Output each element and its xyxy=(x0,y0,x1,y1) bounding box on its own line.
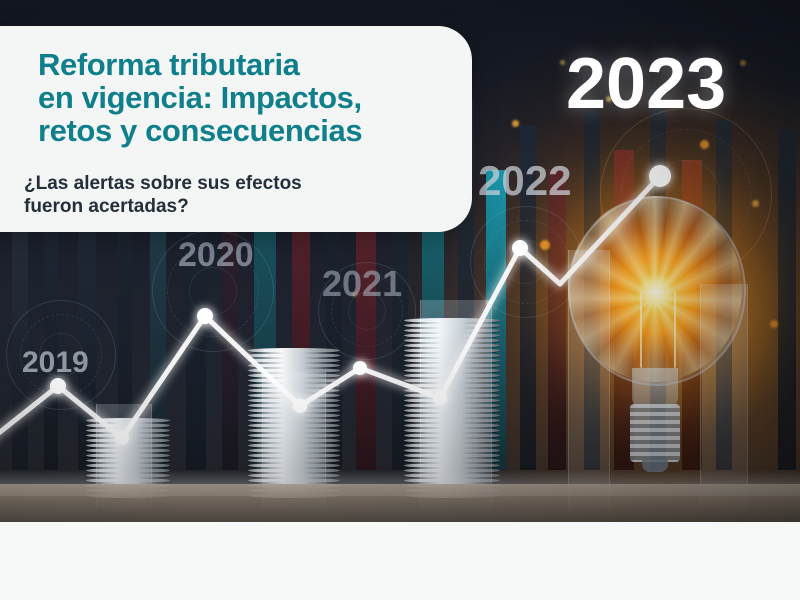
subtitle-line-1: ¿Las alertas sobre sus efectos xyxy=(24,172,444,195)
sponsor-footer: EN ALIANZA APOYA POSSE HERRERA RUIZ ·buk… xyxy=(0,522,800,600)
year-label-2021: 2021 xyxy=(322,266,402,302)
year-label-2022: 2022 xyxy=(478,160,571,202)
year-label-2020: 2020 xyxy=(178,238,254,272)
title-panel: Reforma tributaria en vigencia: Impactos… xyxy=(0,26,472,232)
year-label-2019: 2019 xyxy=(22,348,89,378)
title-line-3: retos y consecuencias xyxy=(38,114,458,147)
subtitle-line-2: fueron acertadas? xyxy=(24,195,444,218)
promo-banner: 2019 2020 2021 2022 2023 Reforma tributa… xyxy=(0,0,800,600)
title-line-2: en vigencia: Impactos, xyxy=(38,81,458,114)
year-label-2023: 2023 xyxy=(566,48,726,120)
title-line-1: Reforma tributaria xyxy=(38,48,458,81)
page-title: Reforma tributaria en vigencia: Impactos… xyxy=(38,48,458,147)
page-subtitle: ¿Las alertas sobre sus efectos fueron ac… xyxy=(24,172,444,218)
